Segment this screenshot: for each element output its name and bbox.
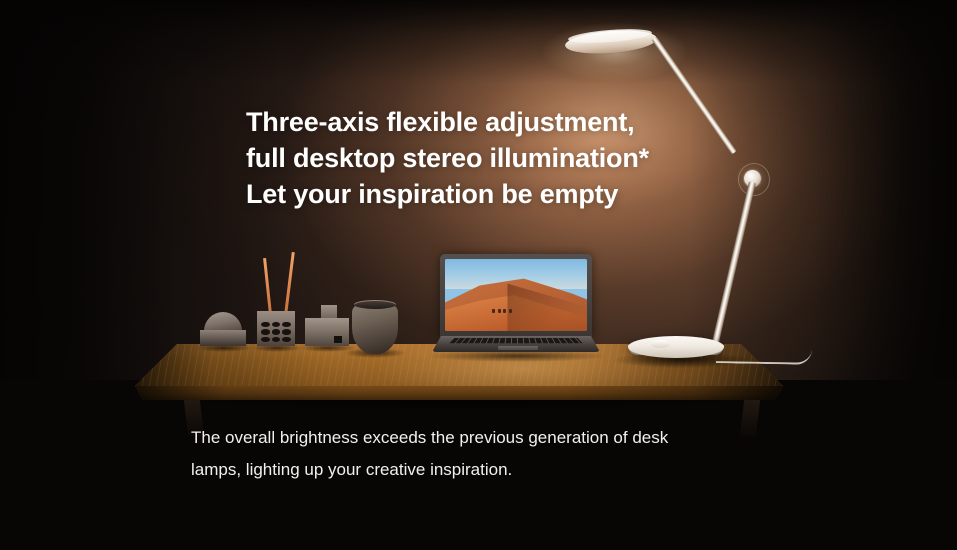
subcopy-line-2: lamps, lighting up your creative inspira… [191, 454, 811, 486]
headline-line-2: full desktop stereo illumination* [246, 140, 716, 176]
lamp-lower-arm [711, 181, 756, 348]
headline: Three-axis flexible adjustment, full des… [246, 104, 716, 212]
product-banner: Three-axis flexible adjustment, full des… [0, 0, 957, 550]
subcopy-line-1: The overall brightness exceeds the previ… [191, 422, 811, 454]
desk-drop-shadow [120, 398, 800, 424]
headline-line-1: Three-axis flexible adjustment, [246, 104, 716, 140]
lamp-power-cord [716, 347, 812, 365]
subcopy: The overall brightness exceeds the previ… [191, 422, 811, 486]
headline-line-3: Let your inspiration be empty [246, 176, 716, 212]
lamp-base [628, 336, 724, 358]
lamp-control-knob[interactable] [651, 340, 670, 348]
